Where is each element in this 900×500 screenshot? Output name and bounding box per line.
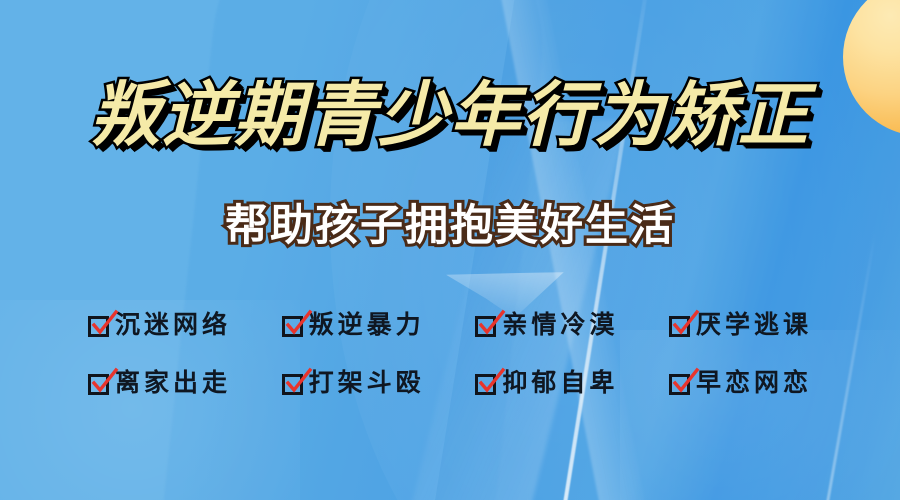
- checkbox-checked-icon[interactable]: [88, 316, 109, 337]
- checklist-item-label: 离家出走: [115, 369, 231, 397]
- checklist-item-lijia[interactable]: 离家出走: [88, 369, 231, 397]
- checklist-item-yiyu[interactable]: 抑郁自卑: [475, 369, 618, 397]
- checkbox-checked-icon[interactable]: [669, 374, 690, 395]
- checklist-item-label: 早恋网恋: [696, 369, 812, 397]
- page-subtitle: 帮助孩子拥抱美好生活: [0, 197, 900, 255]
- issue-checklist: 沉迷网络 叛逆暴力 亲情冷漠 厌学逃课: [88, 296, 812, 412]
- checkbox-checked-icon[interactable]: [475, 374, 496, 395]
- checklist-row-2: 离家出走 打架斗殴 抑郁自卑 早恋网恋: [88, 354, 812, 412]
- checklist-item-label: 抑郁自卑: [502, 369, 618, 397]
- checklist-item-label: 打架斗殴: [309, 369, 425, 397]
- checklist-item-dajia[interactable]: 打架斗殴: [282, 369, 425, 397]
- checklist-item-label: 厌学逃课: [696, 311, 812, 339]
- checklist-item-lengmo[interactable]: 亲情冷漠: [475, 311, 618, 339]
- page-title: 叛逆期青少年行为矫正: [0, 72, 900, 158]
- checklist-item-wangluo[interactable]: 沉迷网络: [88, 311, 231, 339]
- checklist-row-1: 沉迷网络 叛逆暴力 亲情冷漠 厌学逃课: [88, 296, 812, 354]
- checkbox-checked-icon[interactable]: [282, 316, 303, 337]
- promo-banner: 叛逆期青少年行为矫正 帮助孩子拥抱美好生活 沉迷网络 叛逆暴力 亲情冷: [0, 0, 900, 500]
- checkbox-checked-icon[interactable]: [88, 374, 109, 395]
- checkbox-checked-icon[interactable]: [282, 374, 303, 395]
- checkbox-checked-icon[interactable]: [475, 316, 496, 337]
- checklist-item-zaolian[interactable]: 早恋网恋: [669, 369, 812, 397]
- checklist-item-taoke[interactable]: 厌学逃课: [669, 311, 812, 339]
- checklist-item-label: 亲情冷漠: [502, 311, 618, 339]
- checkbox-checked-icon[interactable]: [669, 316, 690, 337]
- checklist-item-label: 沉迷网络: [115, 311, 231, 339]
- checklist-item-label: 叛逆暴力: [309, 311, 425, 339]
- checklist-item-baoli[interactable]: 叛逆暴力: [282, 311, 425, 339]
